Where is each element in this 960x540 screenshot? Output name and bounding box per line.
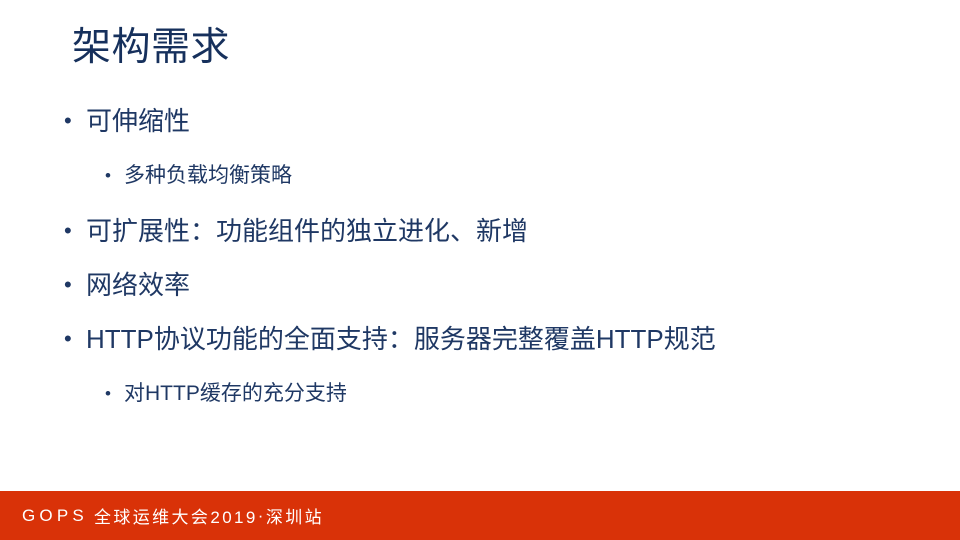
bullet-dot-icon: • — [64, 268, 86, 302]
bullet-dot-icon: • — [105, 162, 124, 190]
slide: 架构需求 • 可伸缩性 • 多种负载均衡策略 • 可扩展性：功能组件的独立进化、… — [0, 0, 960, 540]
bullet-dot-icon: • — [105, 380, 124, 408]
list-item-label: 可扩展性：功能组件的独立进化、新增 — [86, 214, 924, 248]
footer-banner: GOPS 全球运维大会2019 · 深圳站 — [0, 491, 960, 540]
footer-event: 全球运维大会2019 — [94, 503, 258, 528]
bullet-dot-icon: • — [64, 104, 86, 138]
list-item-label: 多种负载均衡策略 — [124, 162, 924, 190]
list-item: • 可伸缩性 — [64, 104, 924, 138]
list-item-label: 可伸缩性 — [86, 104, 924, 138]
list-item-label: HTTP协议功能的全面支持：服务器完整覆盖HTTP规范 — [86, 322, 924, 356]
page-title: 架构需求 — [72, 24, 230, 72]
list-item: • 网络效率 — [64, 268, 924, 302]
bullet-dot-icon: • — [64, 322, 86, 356]
list-item: • 可扩展性：功能组件的独立进化、新增 — [64, 214, 924, 248]
footer-location: 深圳站 — [266, 503, 324, 528]
bullet-dot-icon: • — [64, 214, 86, 248]
footer-separator: · — [258, 506, 266, 526]
footer-text: GOPS 全球运维大会2019 · 深圳站 — [22, 491, 324, 540]
list-item-label: 对HTTP缓存的充分支持 — [124, 380, 924, 408]
footer-brand: GOPS — [22, 506, 88, 526]
list-item: • 对HTTP缓存的充分支持 — [64, 380, 924, 408]
list-item-label: 网络效率 — [86, 268, 924, 302]
list-item: • 多种负载均衡策略 — [64, 162, 924, 190]
list-item: • HTTP协议功能的全面支持：服务器完整覆盖HTTP规范 — [64, 322, 924, 356]
bullet-list: • 可伸缩性 • 多种负载均衡策略 • 可扩展性：功能组件的独立进化、新增 • … — [64, 104, 924, 432]
